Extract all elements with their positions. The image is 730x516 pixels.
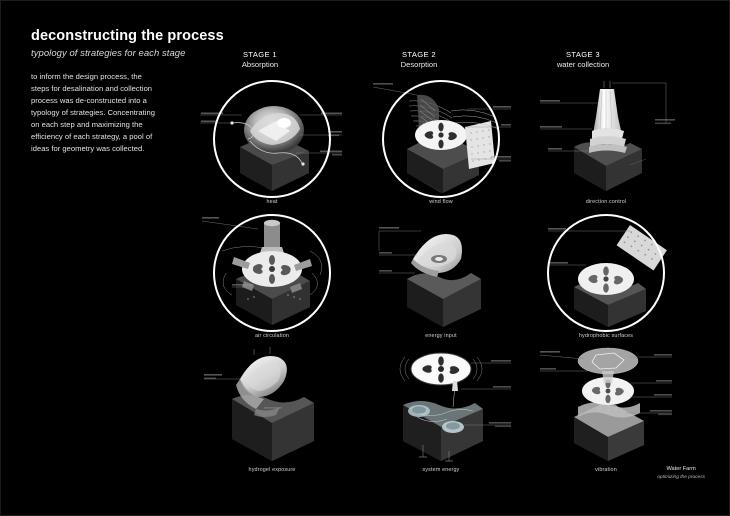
stage-header-2: STAGE 2 Desorption: [349, 50, 489, 71]
project-tagline: optimizing the process: [657, 474, 705, 481]
stage-number: STAGE 1: [190, 50, 330, 60]
cell-caption: energy input: [361, 333, 521, 339]
cell-caption: system energy: [361, 467, 521, 473]
cell-caption: hydrophobic surfaces: [526, 333, 686, 339]
diagram-cell-direction-control: direction control: [526, 73, 686, 205]
stage-number: STAGE 2: [349, 50, 489, 60]
stage-header-3: STAGE 3 water collection: [513, 50, 653, 71]
diagram-cell-vibration: vibration: [526, 341, 686, 473]
diagram-cell-hydrogel-exposure: hydrogel exposure: [192, 341, 352, 473]
stage-name: Absorption: [190, 60, 330, 70]
diagram-grid: heat: [181, 73, 721, 483]
diagram-illustration: [526, 73, 686, 197]
diagram-cell-wind-flow: wind flow: [361, 73, 521, 205]
stage-header-1: STAGE 1 Absorption: [190, 50, 330, 71]
stage-name: Desorption: [349, 60, 489, 70]
diagram-illustration: [361, 207, 521, 331]
diagram-cell-air-circulation: air circulation: [192, 207, 352, 339]
diagram-cell-energy-input: energy input: [361, 207, 521, 339]
stage-number: STAGE 3: [513, 50, 653, 60]
diagram-illustration: [192, 207, 352, 331]
cell-caption: direction control: [526, 199, 686, 205]
cell-caption: heat: [192, 199, 352, 205]
project-signature: Water Farm optimizing the process: [657, 465, 705, 481]
diagram-illustration: [361, 73, 521, 197]
project-name: Water Farm: [657, 465, 705, 473]
diagram-illustration: [526, 207, 686, 331]
presentation-board: deconstructing the process typology of s…: [0, 0, 730, 516]
stage-name: water collection: [513, 60, 653, 70]
diagram-illustration: [192, 73, 352, 197]
diagram-cell-heat: heat: [192, 73, 352, 205]
cell-caption: wind flow: [361, 199, 521, 205]
diagram-illustration: [526, 341, 686, 465]
diagram-cell-system-energy: system energy: [361, 341, 521, 473]
cell-caption: hydrogel exposure: [192, 467, 352, 473]
diagram-illustration: [192, 341, 352, 465]
page-title: deconstructing the process: [31, 28, 251, 45]
diagram-illustration: [361, 341, 521, 465]
cell-caption: air circulation: [192, 333, 352, 339]
intro-paragraph: to inform the design process, the steps …: [31, 71, 161, 155]
diagram-cell-hydrophobic-surfaces: hydrophobic surfaces: [526, 207, 686, 339]
